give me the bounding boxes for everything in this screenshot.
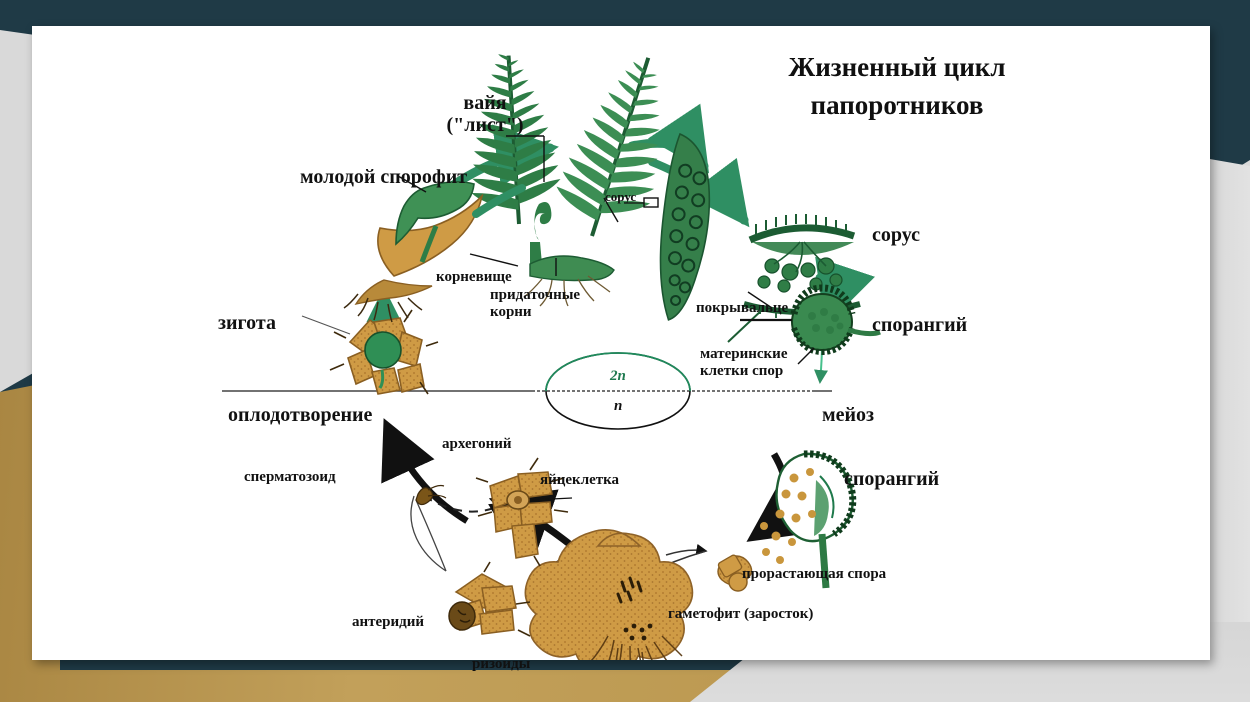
pinna-with-sori [653, 133, 717, 323]
slide-canvas: Жизненный цикл папоротников вайя ("лист"… [32, 26, 1210, 660]
label-antheridium: антеридий [352, 614, 424, 631]
zygote [302, 310, 438, 394]
label-germinating-spore: прорастающая спора [742, 566, 886, 583]
page-title: Жизненный цикл папоротников [732, 48, 1062, 125]
label-spore-mother-cells: материнские клетки спор [700, 346, 787, 380]
label-fertilization: оплодотворение [228, 404, 372, 426]
label-young-sporophyte: молодой спорофит [300, 166, 467, 188]
label-zygote: зигота [218, 312, 276, 334]
label-indusium: покрывальце [696, 300, 788, 317]
fern-frond-cluster [451, 45, 681, 306]
ploidy-2n: 2n [610, 368, 626, 385]
label-sorus: сорус [872, 224, 920, 246]
label-sorus-small: сорус [605, 190, 636, 205]
label-spermatozoid: сперматозоид [244, 469, 336, 486]
gametophyte-prothallus [525, 530, 692, 660]
label-sporangium-bottom: спорангий [844, 468, 939, 490]
label-archegonium: архегоний [442, 436, 512, 453]
label-sporangium-top: спорангий [872, 314, 967, 336]
antheridium [449, 562, 530, 636]
slide-stage: Жизненный цикл папоротников вайя ("лист"… [0, 0, 1250, 702]
label-egg-cell: яйцеклетка [540, 472, 619, 489]
label-vayya: вайя ("лист") [430, 92, 540, 137]
label-adventitious-roots: придаточные корни [490, 287, 580, 321]
label-rhizoids: ризоиды [472, 656, 530, 673]
ploidy-n: n [614, 398, 622, 415]
label-gametophyte: гаметофит (заросток) [668, 606, 813, 623]
label-meiosis: мейоз [822, 404, 874, 426]
sporangium-closed [740, 288, 880, 352]
label-rhizome: корневище [436, 269, 512, 286]
sorus-callout-box [644, 198, 658, 207]
